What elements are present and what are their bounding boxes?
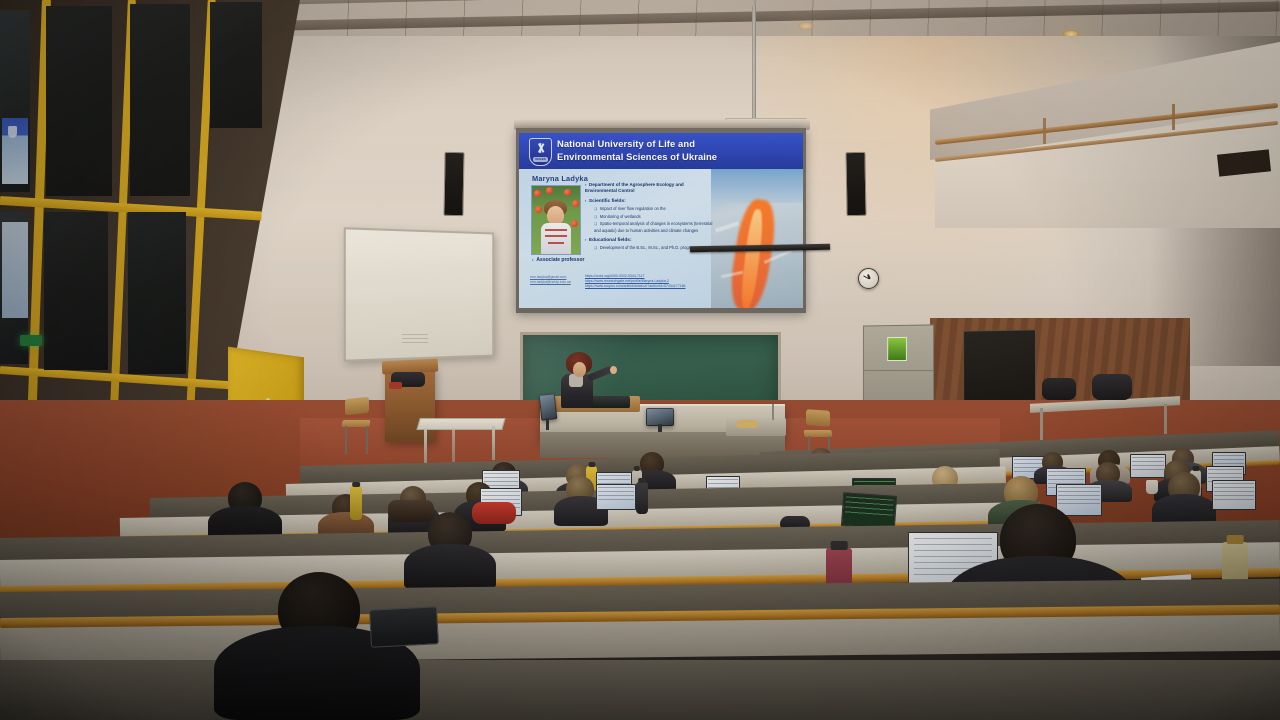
table-leg [424, 428, 427, 464]
slide-position: Associate professor [532, 257, 585, 263]
screen-content [598, 487, 634, 503]
bench-equipment [588, 396, 630, 408]
laptop-screen [1056, 484, 1102, 516]
balcony-rail-post [1172, 104, 1175, 130]
bottle-cap [638, 478, 646, 483]
red-jacket [472, 502, 516, 524]
bag-on-side-table [1042, 378, 1076, 400]
screen-content [1058, 487, 1100, 506]
ceiling-downlight [798, 22, 814, 30]
lectern [385, 366, 435, 442]
presenter-hand [610, 366, 617, 374]
slide-scientific-item: Spatio-temporal analysis of changes in e… [594, 221, 715, 233]
bench-tap [772, 404, 774, 420]
wall-cabinet [863, 324, 934, 405]
chair-back [806, 409, 830, 427]
portrait-flower [535, 206, 542, 213]
bag-on-side-table [1092, 374, 1132, 400]
monitor-screen [540, 394, 556, 419]
presentation-slide: NULES National University of Life and En… [519, 133, 803, 308]
lecture-hall-photo: NULES National University of Life and En… [0, 0, 1280, 720]
portrait-flower [546, 187, 553, 194]
slide-title-line2: Environmental Sciences of Ukraine [557, 151, 785, 164]
portrait-embroidered-shirt [541, 223, 571, 254]
monitor-stand [658, 424, 662, 432]
slide-email[interactable]: mm.ladyka@nubip.edu.ua [530, 280, 571, 285]
laptop[interactable] [1130, 454, 1166, 478]
bottle-cap [1227, 535, 1244, 544]
red-item-on-lectern [389, 382, 402, 389]
laptop-screen [1130, 454, 1166, 478]
embroidery-stripe [548, 242, 564, 244]
embroidery-stripe [545, 229, 567, 231]
bottle-cap [588, 462, 595, 467]
laptop[interactable] [596, 484, 636, 510]
table-leg [452, 428, 455, 462]
screen-content [845, 496, 894, 518]
bottle-cap [1192, 466, 1199, 471]
cabinet-seam [864, 370, 933, 371]
side-table-leg [1164, 404, 1167, 434]
crest-label: NULES [533, 157, 548, 162]
projector-mount-rod [752, 6, 756, 118]
slide-links[interactable]: https://orcid.org/0000-0002-5344-7117 ht… [585, 274, 686, 290]
laptop-closest[interactable] [369, 606, 439, 648]
slide-scientific-item: Impact of river flow regulation on the [594, 206, 715, 212]
slide-map-figure [711, 169, 803, 308]
presenter-head [573, 362, 586, 377]
coffee-cup[interactable] [1146, 480, 1158, 494]
bench-items [736, 420, 758, 428]
slide-scientific-item: Monitoring of wetlands [594, 214, 715, 220]
window-pane [210, 2, 262, 128]
side-table-leg [1040, 408, 1043, 440]
portrait-flower [534, 190, 541, 197]
slide-link-scopus[interactable]: https://www.scopus.com/authid/detail.uri… [585, 284, 686, 289]
monitor-left [539, 393, 558, 421]
student-shoulders [404, 544, 496, 590]
wall-clock [858, 268, 879, 289]
slide-educational-heading: Educational fields: [585, 237, 715, 243]
slide-body: Department of the Agrosphere Ecology and… [585, 182, 715, 252]
wall-speaker-right [845, 152, 866, 216]
embroidery-stripe [545, 235, 567, 237]
portrait-flower [572, 200, 579, 207]
screen-content [1132, 457, 1164, 471]
monitor-stand [546, 418, 549, 430]
row5-desk-front [0, 660, 1280, 720]
window-pane [44, 212, 108, 370]
table-leg [492, 426, 495, 460]
water-bottle[interactable] [636, 482, 648, 514]
safety-sign-icon [887, 337, 907, 361]
laptop-screen [596, 484, 636, 510]
slide-presenter-name: Maryna Ladyka [532, 174, 588, 183]
whiteboard-notes [402, 334, 428, 346]
portrait-flower [564, 189, 571, 196]
slide-title: National University of Life and Environm… [557, 138, 785, 163]
bottle-cap [831, 541, 848, 550]
monitor-screen [647, 409, 673, 425]
exit-sign [20, 335, 42, 346]
laptop[interactable] [842, 494, 896, 528]
slide-affiliation: Department of the Agrosphere Ecology and… [585, 182, 715, 194]
university-crest-icon: NULES [529, 138, 552, 166]
map-cloud-streak [715, 221, 739, 232]
laptop-screen [1212, 480, 1256, 510]
balcony-rail-post [1043, 118, 1046, 144]
portrait-flower [571, 220, 578, 227]
slide-scientific-heading: Scientific fields: [585, 198, 715, 204]
window-pane [128, 212, 186, 374]
wall-speaker-left [443, 152, 464, 216]
chair-leg [345, 426, 347, 454]
bottle-cap [634, 466, 640, 471]
chair-back [345, 397, 369, 416]
laptop[interactable] [1056, 484, 1102, 516]
backpack [388, 500, 434, 522]
window-pane [46, 6, 112, 196]
presenter-portrait-photo [531, 185, 581, 255]
map-sky [711, 169, 803, 203]
slide-emails[interactable]: mm.ladyka@gmail.com mm.ladyka@nubip.edu.… [530, 275, 571, 285]
laptop-screen-terminal [841, 492, 897, 530]
water-bottle[interactable] [350, 486, 362, 520]
chair-leg [366, 426, 368, 454]
slide-title-line1: National University of Life and [557, 138, 785, 151]
bottle-cap [352, 482, 360, 487]
slide-reflection-lower [2, 222, 28, 318]
laptop[interactable] [1212, 480, 1256, 510]
reflection-crest [8, 126, 17, 138]
window-pane [130, 4, 190, 196]
screen-content [1214, 483, 1254, 501]
